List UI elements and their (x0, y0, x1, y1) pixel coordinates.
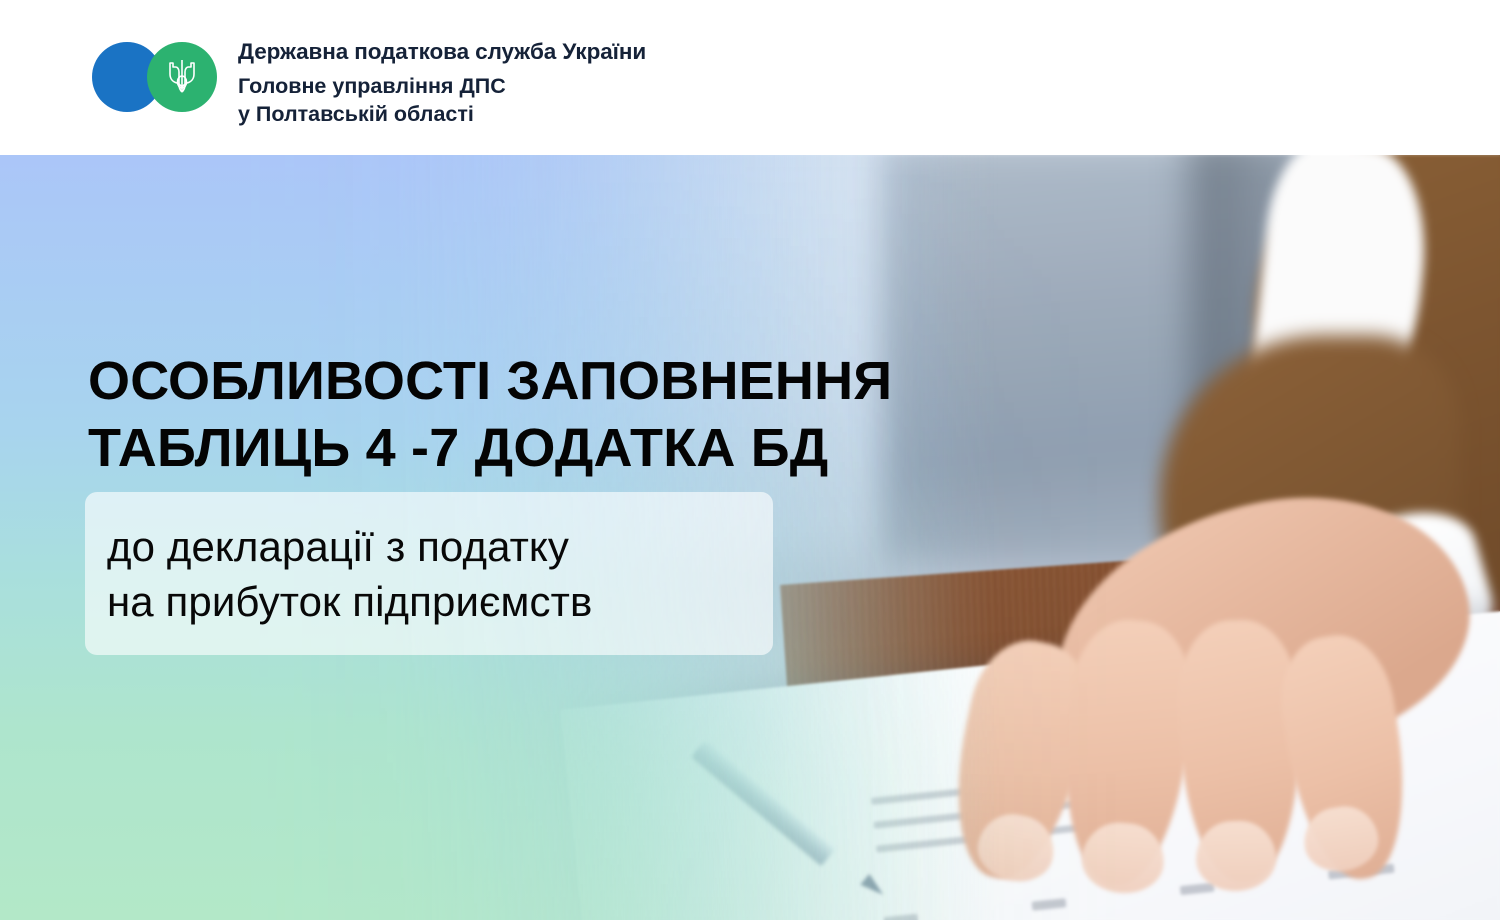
hero-title-line-1: ОСОБЛИВОСТІ ЗАПОВНЕННЯ (88, 348, 1038, 415)
org-name-line-2: Головне управління ДПС (238, 76, 646, 98)
org-name-line-1: Державна податкова служба України (238, 41, 646, 64)
site-header: Державна податкова служба України Головн… (0, 0, 1500, 155)
ukraine-trident-icon (167, 57, 197, 97)
hero-subtitle-line-2: на прибуток підприємств (107, 575, 751, 630)
org-name-line-3: у Полтавській області (238, 104, 646, 126)
hero-title-line-2: ТАБЛИЦЬ 4 -7 ДОДАТКА БД (88, 415, 1038, 482)
hero-title: ОСОБЛИВОСТІ ЗАПОВНЕННЯ ТАБЛИЦЬ 4 -7 ДОДА… (88, 348, 1038, 482)
organization-name: Державна податкова служба України Головн… (238, 41, 646, 126)
logo-green-circle-icon (147, 42, 217, 112)
hero-subtitle-line-1: до декларації з податку (107, 520, 751, 575)
hero-subtitle-box: до декларації з податку на прибуток підп… (85, 492, 773, 655)
banner-root: ОСОБЛИВОСТІ ЗАПОВНЕННЯ ТАБЛИЦЬ 4 -7 ДОДА… (0, 0, 1500, 920)
organization-logo[interactable] (92, 42, 217, 114)
